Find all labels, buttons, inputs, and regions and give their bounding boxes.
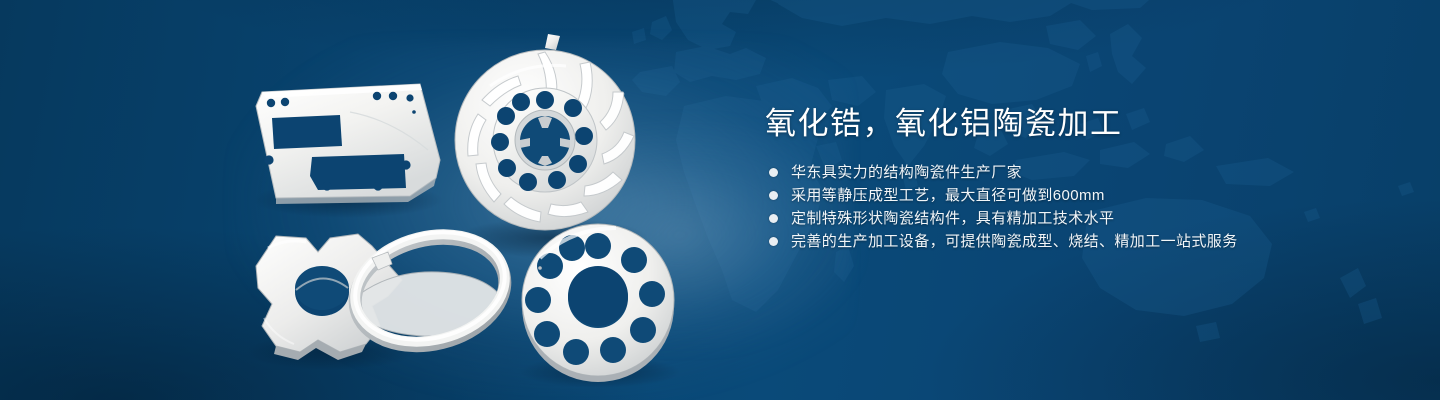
banner-copy: 氧化锆，氧化铝陶瓷加工 华东具实力的结构陶瓷件生产厂家 采用等静压成型工艺，最大… xyxy=(765,106,1405,257)
list-item: 完善的生产加工设备，可提供陶瓷成型、烧结、精加工一站式服务 xyxy=(765,234,1405,249)
hero-banner: 氧化锆，氧化铝陶瓷加工 华东具实力的结构陶瓷件生产厂家 采用等静压成型工艺，最大… xyxy=(0,0,1440,400)
feature-text: 华东具实力的结构陶瓷件生产厂家 xyxy=(791,165,1022,180)
bullet-dot-icon xyxy=(769,191,778,200)
list-item: 采用等静压成型工艺，最大直径可做到600mm xyxy=(765,188,1405,203)
feature-text: 完善的生产加工设备，可提供陶瓷成型、烧结、精加工一站式服务 xyxy=(791,234,1238,249)
feature-text: 采用等静压成型工艺，最大直径可做到600mm xyxy=(791,188,1105,203)
feature-text: 定制特殊形状陶瓷结构件，具有精加工技术水平 xyxy=(791,211,1114,226)
list-item: 华东具实力的结构陶瓷件生产厂家 xyxy=(765,165,1405,180)
list-item: 定制特殊形状陶瓷结构件，具有精加工技术水平 xyxy=(765,211,1405,226)
bullet-dot-icon xyxy=(769,237,778,246)
bullet-dot-icon xyxy=(769,214,778,223)
page-title: 氧化锆，氧化铝陶瓷加工 xyxy=(765,106,1405,143)
bullet-dot-icon xyxy=(769,168,778,177)
feature-list: 华东具实力的结构陶瓷件生产厂家 采用等静压成型工艺，最大直径可做到600mm 定… xyxy=(765,165,1405,249)
